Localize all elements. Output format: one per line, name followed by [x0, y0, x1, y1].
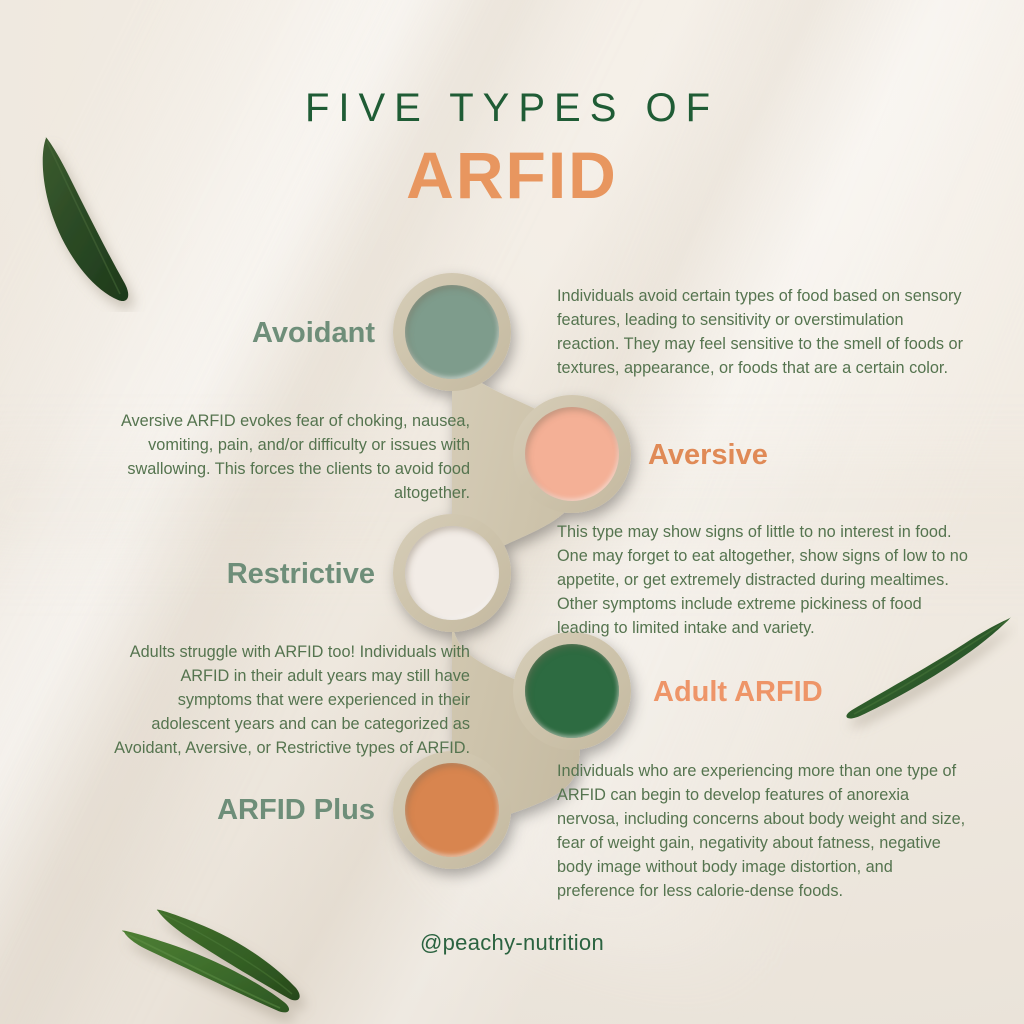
- type-label-restrictive: Restrictive: [130, 558, 375, 591]
- circle-swatch-arfid-plus: [405, 763, 499, 857]
- circle-swatch-adult-arfid: [525, 644, 619, 738]
- circle-swatch-restrictive: [405, 526, 499, 620]
- circle-node-adult-arfid: [513, 632, 631, 750]
- page-header: FIVE TYPES OF ARFID: [0, 84, 1024, 214]
- page-title: ARFID: [0, 138, 1024, 214]
- type-label-arfid-plus: ARFID Plus: [130, 794, 375, 827]
- circle-swatch-aversive: [525, 407, 619, 501]
- circle-swatch-avoidant: [405, 285, 499, 379]
- infographic-canvas: FIVE TYPES OF ARFID: [0, 0, 1024, 1024]
- type-label-aversive: Aversive: [648, 439, 768, 472]
- type-label-adult-arfid: Adult ARFID: [653, 676, 823, 709]
- type-description-adult-arfid: Adults struggle with ARFID too! Individu…: [110, 641, 470, 761]
- type-description-arfid-plus: Individuals who are experiencing more th…: [557, 760, 972, 904]
- circle-node-arfid-plus: [393, 751, 511, 869]
- title-eyebrow: FIVE TYPES OF: [0, 84, 1024, 132]
- type-description-restrictive: This type may show signs of little to no…: [557, 521, 969, 641]
- circle-node-avoidant: [393, 273, 511, 391]
- social-handle: @peachy-nutrition: [0, 930, 1024, 956]
- type-label-avoidant: Avoidant: [150, 317, 375, 350]
- leaf-bottom-left-icon: [104, 902, 334, 1024]
- type-description-avoidant: Individuals avoid certain types of food …: [557, 285, 969, 381]
- circle-node-restrictive: [393, 514, 511, 632]
- type-description-aversive: Aversive ARFID evokes fear of choking, n…: [120, 410, 470, 506]
- circle-node-aversive: [513, 395, 631, 513]
